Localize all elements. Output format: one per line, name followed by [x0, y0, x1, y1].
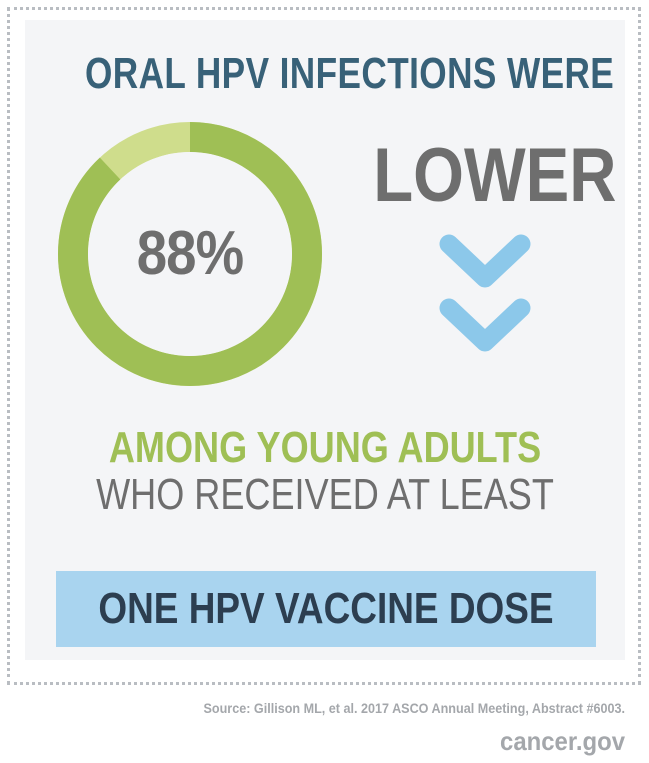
statement-block: AMONG YOUNG ADULTS WHO RECEIVED AT LEAST…	[25, 425, 625, 518]
comparison-block: LOWER	[355, 138, 615, 360]
content-panel: ORAL HPV INFECTIONS WERE 88% LOWER	[25, 20, 625, 660]
statement-line-1: AMONG YOUNG ADULTS	[79, 425, 571, 472]
source-citation: Source: Gillison ML, et al. 2017 ASCO An…	[63, 700, 626, 716]
statement-line-2: WHO RECEIVED AT LEAST	[79, 472, 571, 519]
statement-highlight-bar: ONE HPV VACCINE DOSE	[56, 571, 596, 647]
brand-wordmark: cancer.gov	[50, 726, 625, 757]
chevron-group	[355, 234, 615, 360]
donut-center-value: 88%	[74, 122, 306, 386]
infographic-root: ORAL HPV INFECTIONS WERE 88% LOWER	[0, 0, 649, 763]
chevron-down-icon	[437, 234, 533, 296]
statement-line-3: ONE HPV VACCINE DOSE	[98, 587, 553, 631]
page-title: ORAL HPV INFECTIONS WERE	[85, 52, 565, 96]
comparison-word: LOWER	[373, 138, 597, 214]
donut-chart: 88%	[58, 122, 322, 386]
chevron-down-icon	[437, 298, 533, 360]
